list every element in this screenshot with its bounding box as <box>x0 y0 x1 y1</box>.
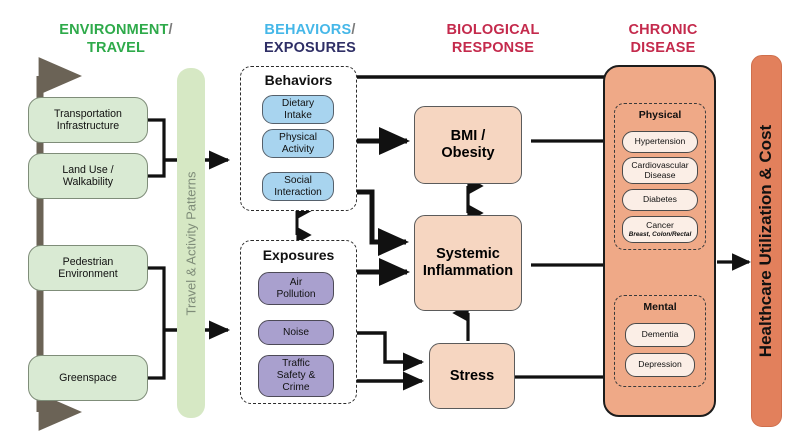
behavior-node-dietary-intake[interactable]: DietaryIntake <box>262 95 334 124</box>
header-environment-line2: TRAVEL <box>87 40 145 56</box>
mental-subgroup-title: Mental <box>614 301 706 313</box>
behavior-node-social-interaction[interactable]: SocialInteraction <box>262 172 334 201</box>
env-node-greenspace[interactable]: Greenspace <box>28 355 148 401</box>
healthcare-utilization-cost-bar: Healthcare Utilization & Cost <box>751 55 782 427</box>
disease-node-dementia[interactable]: Dementia <box>625 323 695 347</box>
env-node-land-use-walkability[interactable]: Land Use /Walkability <box>28 153 148 199</box>
header-behaviors-line2: EXPOSURES <box>264 40 356 56</box>
exposures-group-title: Exposures <box>240 247 357 263</box>
physical-subgroup-title: Physical <box>614 109 706 121</box>
disease-node-depression[interactable]: Depression <box>625 353 695 377</box>
disease-node-label: Diabetes <box>643 195 677 205</box>
disease-node-label: Cancer <box>646 221 674 231</box>
disease-node-sublabel: Breast, Colon/Rectal <box>629 231 692 238</box>
header-biological-line1: BIOLOGICAL <box>446 22 539 38</box>
env-node-transportation-infrastructure[interactable]: TransportationInfrastructure <box>28 97 148 143</box>
behavior-node-label: PhysicalActivity <box>279 132 317 155</box>
column-header-chronic: CHRONIC DISEASE <box>588 22 738 57</box>
disease-node-diabetes[interactable]: Diabetes <box>622 189 698 211</box>
column-header-environment: ENVIRONMENT/ TRAVEL <box>18 22 214 57</box>
exposure-node-label: Noise <box>283 327 309 339</box>
travel-activity-patterns-label: Travel & Activity Patterns <box>184 171 199 315</box>
env-node-label: Greenspace <box>59 372 117 384</box>
env-node-pedestrian-environment[interactable]: PedestrianEnvironment <box>28 245 148 291</box>
header-environment-slash: / <box>169 22 173 38</box>
header-chronic-line1: CHRONIC <box>628 22 697 38</box>
healthcare-utilization-cost-label: Healthcare Utilization & Cost <box>757 125 777 357</box>
behaviors-group-title: Behaviors <box>240 72 357 88</box>
disease-node-hypertension[interactable]: Hypertension <box>622 131 698 153</box>
bio-node-label: Stress <box>450 368 494 385</box>
header-behaviors-slash: / <box>351 22 355 38</box>
exposure-node-noise[interactable]: Noise <box>258 320 334 345</box>
column-header-behaviors: BEHAVIORS/ EXPOSURES <box>225 22 395 57</box>
behavior-node-label: DietaryIntake <box>282 98 314 121</box>
disease-node-label: Dementia <box>642 330 679 340</box>
exposure-node-air-pollution[interactable]: AirPollution <box>258 272 334 305</box>
disease-node-cardiovascular-disease[interactable]: CardiovascularDisease <box>622 157 698 184</box>
bio-node-systemic-inflammation[interactable]: SystemicInflammation <box>414 215 522 311</box>
header-behaviors-line1: BEHAVIORS <box>264 22 351 38</box>
exposure-node-traffic-safety-crime[interactable]: TrafficSafety &Crime <box>258 355 334 397</box>
behaviors-to-inflammation-arrow <box>357 192 406 242</box>
bio-node-label: SystemicInflammation <box>423 246 513 279</box>
header-chronic-line2: DISEASE <box>630 40 695 56</box>
bio-node-bmi-obesity[interactable]: BMI /Obesity <box>414 106 522 184</box>
bio-node-label: BMI /Obesity <box>441 128 494 161</box>
env-node-label: TransportationInfrastructure <box>54 108 122 132</box>
env-node-label: PedestrianEnvironment <box>58 256 117 280</box>
disease-node-label: Depression <box>638 360 681 370</box>
disease-node-cancer[interactable]: Cancer Breast, Colon/Rectal <box>622 216 698 243</box>
disease-node-label: CardiovascularDisease <box>631 161 688 181</box>
diagram-canvas: ENVIRONMENT/ TRAVEL BEHAVIORS/ EXPOSURES… <box>0 0 800 434</box>
exposure-node-label: AirPollution <box>276 277 315 300</box>
disease-node-label: Hypertension <box>635 137 686 147</box>
behavior-node-physical-activity[interactable]: PhysicalActivity <box>262 129 334 158</box>
header-environment-line1: ENVIRONMENT <box>59 22 168 38</box>
header-biological-line2: RESPONSE <box>452 40 534 56</box>
env-node-label: Land Use /Walkability <box>62 164 113 188</box>
environment-bus-wires <box>148 120 164 378</box>
exposure-node-label: TrafficSafety &Crime <box>277 358 316 393</box>
bio-node-stress[interactable]: Stress <box>429 343 515 409</box>
column-header-biological: BIOLOGICAL RESPONSE <box>398 22 588 57</box>
travel-activity-patterns-bar: Travel & Activity Patterns <box>177 68 205 418</box>
behavior-node-label: SocialInteraction <box>274 175 322 198</box>
